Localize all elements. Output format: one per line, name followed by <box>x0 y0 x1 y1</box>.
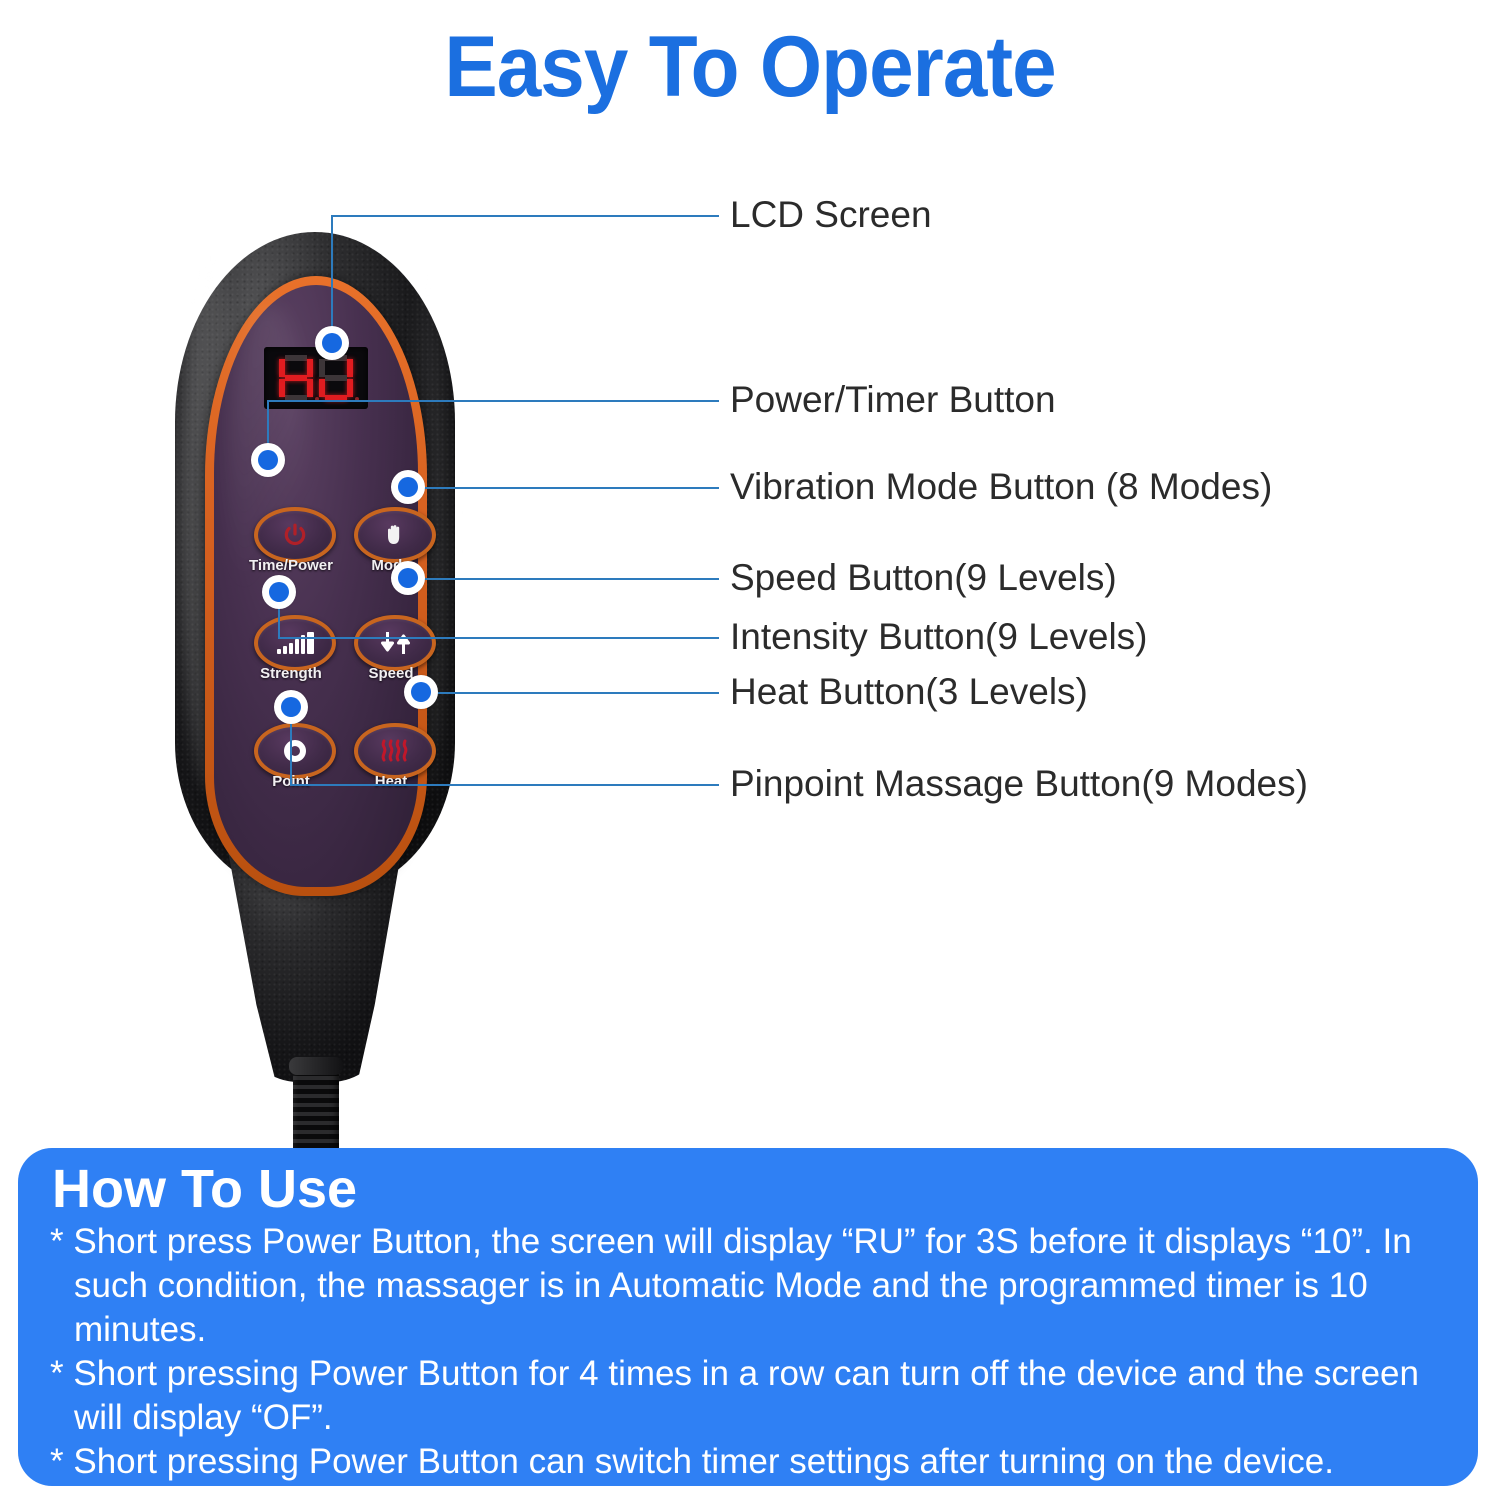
lcd-digit-1 <box>279 355 313 401</box>
how-to-use-title: How To Use <box>52 1162 1452 1216</box>
lcd-digit-2 <box>319 355 353 401</box>
leader-line-pinpoint-horizontal <box>290 784 719 786</box>
how-to-use-bullet: * Short pressing Power Button for 4 time… <box>50 1352 1452 1440</box>
leader-line-speed-horizontal <box>408 578 719 580</box>
callout-dot-lcd[interactable] <box>315 326 349 360</box>
callout-label-vibration-mode: Vibration Mode Button (8 Modes) <box>730 466 1272 508</box>
callout-dot-pinpoint[interactable] <box>274 690 308 724</box>
heat-button[interactable] <box>354 723 436 779</box>
callout-label-intensity: Intensity Button(9 Levels) <box>730 616 1148 658</box>
callout-dot-speed[interactable] <box>391 561 425 595</box>
leader-line-heat-horizontal <box>421 692 719 694</box>
callout-label-heat: Heat Button(3 Levels) <box>730 671 1088 713</box>
infographic-canvas: Easy To Operate <box>0 0 1500 1500</box>
callout-label-lcd: LCD Screen <box>730 194 932 236</box>
leader-line-vibration-horizontal <box>408 487 719 489</box>
callout-dot-intensity[interactable] <box>262 575 296 609</box>
callout-dot-vibration-mode[interactable] <box>391 470 425 504</box>
remote-control-device: Time/Power Mode Strength <box>150 232 480 1092</box>
mode-button[interactable] <box>354 507 436 563</box>
ring-icon <box>284 740 306 762</box>
leader-line-intensity-horizontal <box>278 637 719 639</box>
up-down-arrows-icon <box>381 630 410 656</box>
leader-line-lcd-horizontal <box>331 215 719 217</box>
how-to-use-panel: How To Use * Short press Power Button, t… <box>18 1148 1478 1486</box>
leader-line-lcd-vertical <box>331 215 333 343</box>
callout-dot-heat[interactable] <box>404 675 438 709</box>
speed-button[interactable] <box>354 615 436 671</box>
callout-label-speed: Speed Button(9 Levels) <box>730 557 1117 599</box>
point-button[interactable] <box>254 723 336 779</box>
how-to-use-bullet: * Short pressing Power Button can switch… <box>50 1440 1452 1484</box>
heat-button-label: Heat <box>331 773 451 790</box>
strength-button[interactable] <box>254 615 336 671</box>
power-icon <box>282 522 308 548</box>
faceplate-panel: Time/Power Mode Strength <box>214 285 418 887</box>
how-to-use-list: * Short press Power Button, the screen w… <box>44 1220 1452 1485</box>
time-power-button[interactable] <box>254 507 336 563</box>
heat-waves-icon <box>379 738 411 764</box>
cable-strain-relief <box>293 1067 339 1159</box>
callout-dot-power-timer[interactable] <box>251 443 285 477</box>
signal-bars-icon <box>277 632 314 654</box>
callout-label-power-timer: Power/Timer Button <box>730 379 1056 421</box>
hand-icon <box>383 522 407 548</box>
callout-label-pinpoint: Pinpoint Massage Button(9 Modes) <box>730 763 1308 805</box>
page-title: Easy To Operate <box>53 18 1448 117</box>
how-to-use-bullet: * Short press Power Button, the screen w… <box>50 1220 1452 1352</box>
leader-line-power-horizontal <box>267 400 719 402</box>
